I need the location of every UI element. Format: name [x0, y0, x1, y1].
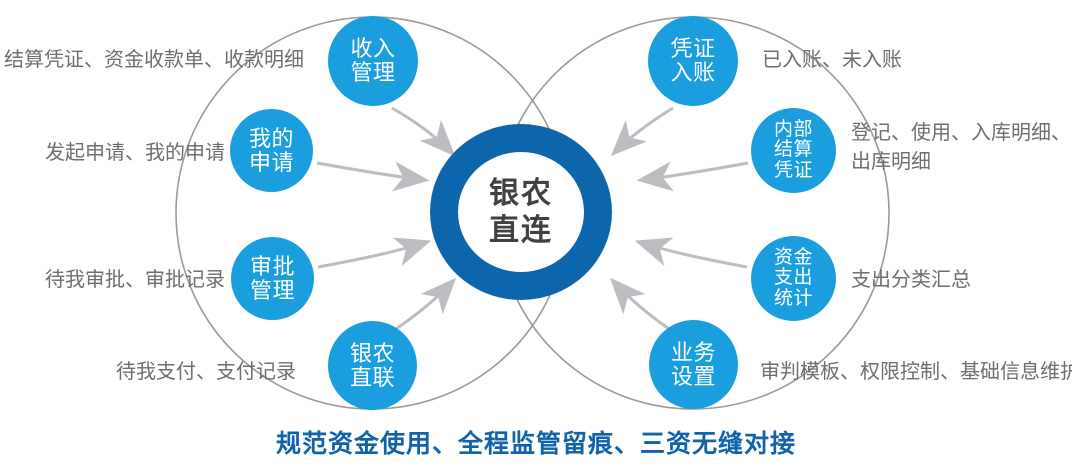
- arrow-internal-settle-voucher-to-center: [641, 163, 748, 180]
- node-internal-settle-voucher-line-2: 结算: [774, 140, 813, 160]
- node-fund-expense-stats[interactable]: 资金 支出 统计: [751, 236, 836, 321]
- node-internal-settle-voucher[interactable]: 内部 结算 凭证: [751, 108, 836, 193]
- node-my-application-line-1: 我的: [249, 127, 294, 151]
- label-approval-management: 待我审批、审批记录: [45, 266, 225, 295]
- arrow-voucher-posting-to-center: [614, 108, 673, 153]
- label-income-management: 结算凭证、资金收款单、收款明细: [4, 46, 304, 75]
- label-voucher-posting-line-1: 已入账、未入账: [762, 46, 902, 75]
- node-voucher-posting-line-2: 入账: [670, 61, 715, 85]
- center-hub-label: 银农 直连: [458, 152, 584, 272]
- node-business-settings[interactable]: 业务 设置: [649, 320, 738, 409]
- label-internal-settle-voucher: 登记、使用、入库明细、 出库明细: [851, 119, 1071, 177]
- label-income-management-line-1: 结算凭证、资金收款单、收款明细: [4, 46, 304, 75]
- arrow-income-management-to-center: [392, 108, 452, 153]
- node-business-settings-line-2: 设置: [671, 365, 716, 389]
- node-internal-settle-voucher-line-1: 内部: [774, 120, 813, 140]
- label-approval-management-line-1: 待我审批、审批记录: [45, 266, 225, 295]
- node-voucher-posting[interactable]: 凭证 入账: [648, 16, 738, 106]
- label-voucher-posting: 已入账、未入账: [762, 46, 902, 75]
- arrow-my-application-to-center: [317, 163, 425, 180]
- label-internal-settle-voucher-line-1: 登记、使用、入库明细、: [851, 119, 1071, 148]
- arrow-approval-management-to-center: [318, 242, 427, 267]
- node-income-management[interactable]: 收入 管理: [328, 16, 418, 106]
- node-income-management-line-1: 收入: [350, 37, 395, 61]
- node-approval-management-line-2: 管理: [250, 279, 295, 303]
- label-fund-expense-stats-line-1: 支出分类汇总: [851, 266, 971, 295]
- center-hub: 银农 直连: [430, 124, 612, 300]
- label-business-settings: 审判模板、权限控制、基础信息维护: [760, 358, 1072, 387]
- node-voucher-posting-line-1: 凭证: [670, 37, 715, 61]
- diagram-caption: 规范资金使用、全程监管留痕、三资无缝对接: [0, 424, 1072, 460]
- label-fund-expense-stats: 支出分类汇总: [851, 266, 971, 295]
- center-hub-line-2: 直连: [489, 212, 553, 250]
- diagram-canvas: 银农 直连 收入 管理 我的 申请 审批 管理 银农 直联 凭证 入账 内部 结…: [0, 0, 1072, 471]
- node-bank-village-direct-line-2: 直联: [350, 366, 395, 390]
- arrow-fund-expense-stats-to-center: [639, 242, 747, 267]
- node-business-settings-line-1: 业务: [671, 341, 716, 365]
- node-approval-management-line-1: 审批: [250, 255, 295, 279]
- label-internal-settle-voucher-line-2: 出库明细: [851, 148, 1071, 177]
- node-income-management-line-2: 管理: [350, 61, 395, 85]
- label-bank-village-direct-line-1: 待我支付、支付记录: [116, 358, 296, 387]
- node-my-application-line-2: 申请: [249, 151, 294, 175]
- node-internal-settle-voucher-line-3: 凭证: [774, 161, 813, 181]
- node-my-application[interactable]: 我的 申请: [230, 109, 313, 192]
- center-hub-line-1: 银农: [489, 175, 553, 213]
- node-bank-village-direct[interactable]: 银农 直联: [328, 321, 417, 410]
- node-fund-expense-stats-line-3: 统计: [774, 289, 813, 309]
- arrow-bank-village-direct-to-center: [393, 281, 453, 331]
- node-approval-management[interactable]: 审批 管理: [231, 237, 314, 320]
- arrow-business-settings-to-center: [613, 281, 672, 331]
- label-business-settings-line-1: 审判模板、权限控制、基础信息维护: [760, 358, 1072, 387]
- node-bank-village-direct-line-1: 银农: [350, 342, 395, 366]
- label-my-application-line-1: 发起申请、我的申请: [45, 139, 225, 168]
- node-fund-expense-stats-line-2: 支出: [774, 268, 813, 288]
- label-my-application: 发起申请、我的申请: [45, 139, 225, 168]
- node-fund-expense-stats-line-1: 资金: [774, 248, 813, 268]
- label-bank-village-direct: 待我支付、支付记录: [116, 358, 296, 387]
